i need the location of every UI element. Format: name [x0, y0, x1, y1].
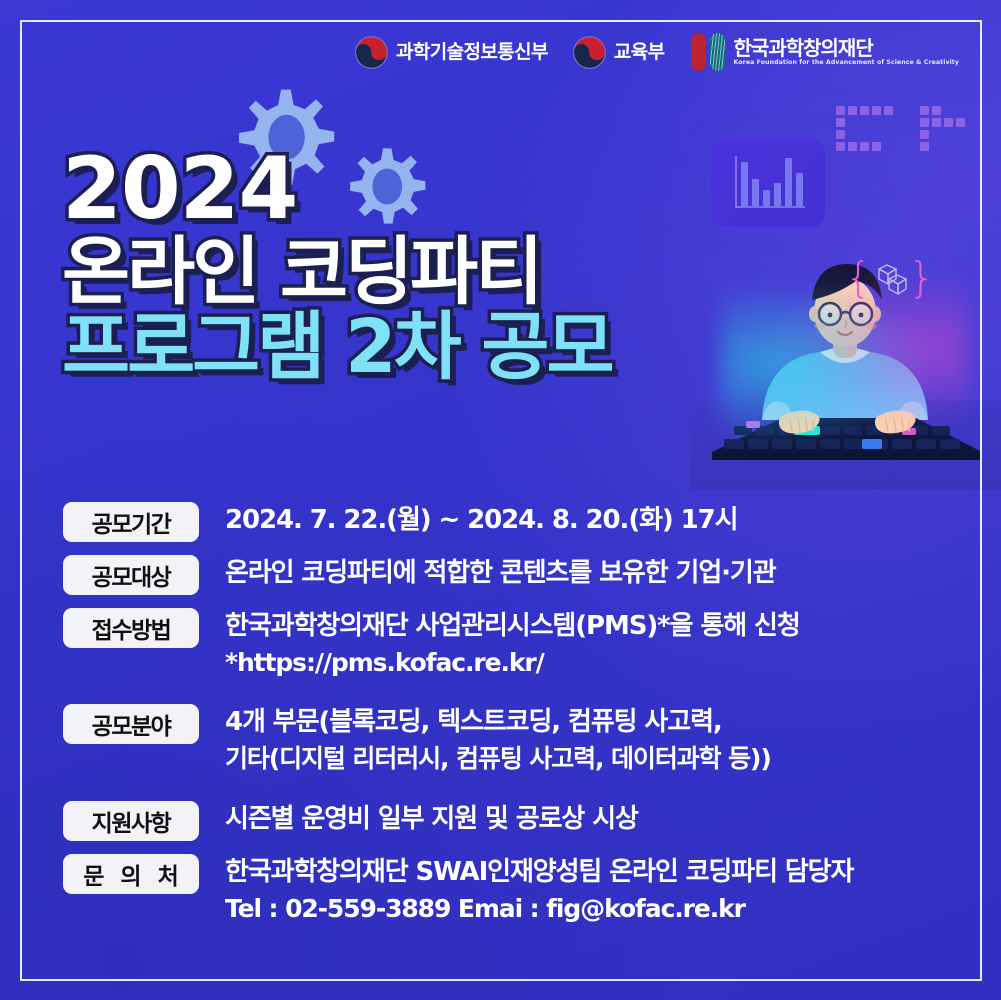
info-row-value-line: 온라인 코딩파티에 적합한 콘텐츠를 보유한 기업·기관	[225, 555, 776, 592]
logo-kofac-label-ko: 한국과학창의재단	[734, 38, 959, 58]
info-row-values: 온라인 코딩파티에 적합한 콘텐츠를 보유한 기업·기관	[225, 553, 776, 592]
info-row-value-line: 기타(디지털 리터러시, 컴퓨팅 사고력, 데이터과학 등))	[225, 741, 771, 777]
code-braces-decoration: { }	[845, 255, 935, 305]
dot-matrix-dot	[920, 142, 929, 151]
dot-matrix-dot	[848, 106, 857, 115]
logo-msit-label: 과학기술정보통신부	[396, 43, 548, 62]
info-row-value-line: 한국과학창의재단 SWAI인재양성팀 온라인 코딩파티 담당자	[225, 854, 853, 891]
info-row-value-line: 4개 부문(블록코딩, 텍스트코딩, 컴퓨팅 사고력,	[225, 704, 771, 741]
dot-matrix-dot	[932, 106, 941, 115]
kofac-mark-icon	[691, 33, 725, 71]
dot-matrix-dot	[836, 118, 845, 127]
info-row: 공모기간2024. 7. 22.(월) ~ 2024. 8. 20.(화) 17…	[63, 500, 953, 542]
info-row-values: 한국과학창의재단 SWAI인재양성팀 온라인 코딩파티 담당자Tel : 02-…	[225, 852, 853, 926]
info-row-label: 지원사항	[63, 801, 199, 841]
dot-matrix-dot	[872, 106, 881, 115]
dot-matrix-dot	[836, 106, 845, 115]
taegeuk-icon	[356, 37, 387, 68]
dot-matrix-dot	[920, 130, 929, 139]
title-main: 온라인 코딩파티	[62, 237, 612, 308]
info-row-value-line: *https://pms.kofac.re.kr/	[225, 645, 800, 681]
chart-bar	[796, 173, 803, 206]
chart-bar	[763, 190, 770, 206]
info-table: 공모기간2024. 7. 22.(월) ~ 2024. 8. 20.(화) 17…	[63, 500, 953, 937]
page-title: 2024 온라인 코딩파티 프로그램 2차 공모	[62, 148, 612, 383]
info-row-label: 문 의 처	[63, 854, 199, 894]
info-row: 문 의 처한국과학창의재단 SWAI인재양성팀 온라인 코딩파티 담당자Tel …	[63, 852, 953, 926]
info-row-label: 접수방법	[63, 608, 199, 648]
dot-matrix-dot	[884, 106, 893, 115]
brace-right: }	[908, 255, 935, 301]
logo-msit: 과학기술정보통신부	[356, 37, 548, 68]
title-year: 2024	[62, 148, 612, 231]
dot-matrix-dot	[860, 142, 869, 151]
info-row: 공모분야4개 부문(블록코딩, 텍스트코딩, 컴퓨팅 사고력,기타(디지털 리터…	[63, 702, 953, 776]
bar-chart-card	[711, 139, 825, 227]
chart-bar	[741, 162, 748, 206]
taegeuk-icon	[574, 37, 605, 68]
dot-matrix-dot	[932, 118, 941, 127]
title-sub: 프로그램 2차 공모	[62, 312, 612, 383]
dot-matrix-dot	[920, 106, 929, 115]
info-row-label: 공모분야	[63, 704, 199, 744]
dot-matrix-dot	[872, 142, 881, 151]
chart-bar	[785, 158, 792, 206]
info-row-values: 2024. 7. 22.(월) ~ 2024. 8. 20.(화) 17시	[225, 500, 737, 539]
dot-matrix-dot	[836, 130, 845, 139]
dot-matrix-dot	[848, 142, 857, 151]
dot-matrix-dot	[944, 118, 953, 127]
poster-canvas: { }	[0, 0, 1001, 1000]
info-row-values: 한국과학창의재단 사업관리시스템(PMS)*을 통해 신청*https://pm…	[225, 606, 800, 680]
chart-bar	[774, 183, 781, 206]
info-row-value-line: 시즌별 운영비 일부 지원 및 공로상 시상	[225, 801, 638, 838]
info-row: 공모대상온라인 코딩파티에 적합한 콘텐츠를 보유한 기업·기관	[63, 553, 953, 595]
logo-kofac-label-en: Korea Foundation for the Advancement of …	[734, 60, 959, 66]
info-row-value-line: Tel : 02-559-3889 Emai : fig@kofac.re.kr	[225, 891, 853, 927]
logo-moe: 교육부	[574, 37, 665, 68]
logo-kofac: 한국과학창의재단 Korea Foundation for the Advanc…	[691, 33, 959, 71]
info-row-values: 4개 부문(블록코딩, 텍스트코딩, 컴퓨팅 사고력,기타(디지털 리터러시, …	[225, 702, 771, 776]
dot-matrix-dot	[956, 118, 965, 127]
chart-y-axis	[735, 156, 737, 208]
chart-bar	[752, 179, 759, 206]
dot-matrix-dot	[920, 118, 929, 127]
info-row-value-line: 한국과학창의재단 사업관리시스템(PMS)*을 통해 신청	[225, 608, 800, 645]
government-logos: 과학기술정보통신부 교육부 한국과학창의재단 Korea Foundation …	[0, 33, 1001, 71]
info-row: 지원사항시즌별 운영비 일부 지원 및 공로상 시상	[63, 799, 953, 841]
info-row: 접수방법한국과학창의재단 사업관리시스템(PMS)*을 통해 신청*https:…	[63, 606, 953, 680]
info-row-label: 공모기간	[63, 502, 199, 542]
dot-matrix-dot	[836, 142, 845, 151]
info-row-value-line: 2024. 7. 22.(월) ~ 2024. 8. 20.(화) 17시	[225, 502, 737, 539]
chart-x-axis	[735, 206, 805, 208]
info-row-label: 공모대상	[63, 555, 199, 595]
dot-matrix-dot	[860, 106, 869, 115]
info-row-values: 시즌별 운영비 일부 지원 및 공로상 시상	[225, 799, 638, 838]
logo-moe-label: 교육부	[614, 43, 665, 62]
brace-left: {	[845, 255, 872, 301]
